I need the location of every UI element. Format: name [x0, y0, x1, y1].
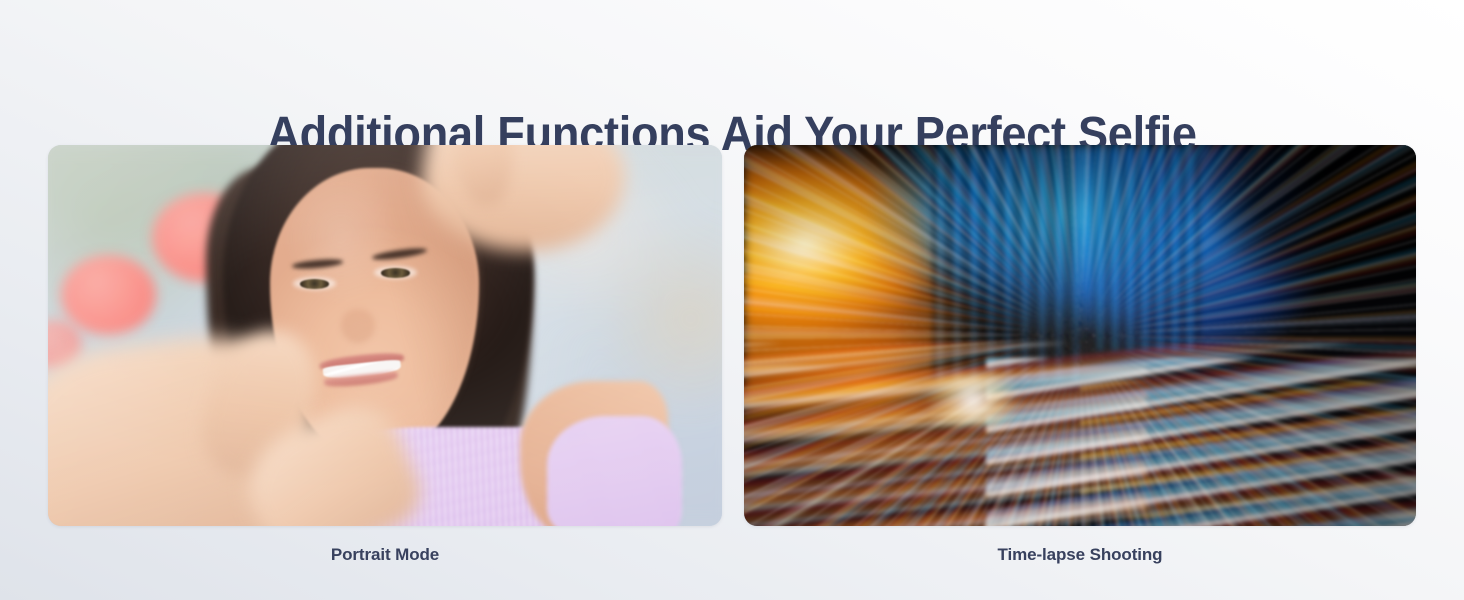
feature-card-row — [48, 145, 1416, 526]
time-lapse-photo — [744, 145, 1416, 526]
photo-vignette — [744, 145, 1416, 526]
selfie-features-banner: Additional Functions Aid Your Perfect Se… — [0, 0, 1464, 600]
photo-soft-light — [48, 145, 722, 526]
portrait-mode-photo — [48, 145, 722, 526]
feature-card-time-lapse-shooting[interactable] — [744, 145, 1416, 526]
caption-time-lapse-shooting: Time-lapse Shooting — [744, 543, 1416, 567]
caption-portrait-mode: Portrait Mode — [48, 543, 722, 567]
feature-card-portrait-mode[interactable] — [48, 145, 722, 526]
caption-row: Portrait Mode Time-lapse Shooting — [48, 543, 1416, 569]
